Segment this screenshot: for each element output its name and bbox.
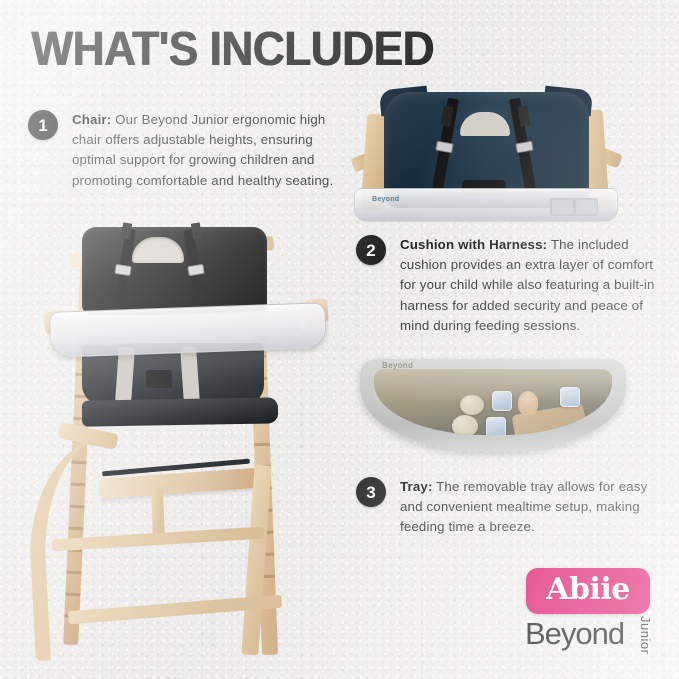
brand-logo: Abiie Beyond Junior [518, 568, 658, 660]
cushion-photo-tray-panel-a [552, 200, 573, 214]
cushion-photo-brand-mark: Beyond [372, 196, 399, 203]
tray-reflection-icon-5 [566, 427, 586, 435]
chair-crotch-buckle [146, 370, 172, 388]
item-3-label: Tray: [400, 479, 433, 494]
tray-gloss-highlight [374, 369, 612, 403]
item-3-description: The removable tray allows for easy and c… [400, 479, 647, 534]
chair-harness-tab-right [191, 222, 202, 239]
chair-black-footrest [82, 397, 278, 426]
junior-wordmark: Junior [638, 616, 653, 654]
abiie-logo-pill: Abiie [526, 568, 650, 614]
item-1-description: Our Beyond Junior ergonomic high chair o… [72, 112, 333, 188]
included-item-2: 2 Cushion with Harness: The included cus… [356, 235, 661, 336]
tray-reflection-plate-2 [452, 415, 478, 435]
item-1-label: Chair: [72, 112, 111, 127]
tray-product-photo: Beyond [350, 355, 636, 467]
page-title: WHAT'S INCLUDED [31, 22, 434, 77]
included-item-3: 3 Tray: The removable tray allows for ea… [356, 477, 656, 538]
chair-product-photo [22, 215, 342, 660]
cushion-photo-tray-panel-b [576, 200, 597, 214]
infographic-page: WHAT'S INCLUDED [0, 0, 679, 679]
included-item-1: 1 Chair: Our Beyond Junior ergonomic hig… [28, 110, 348, 191]
beyond-wordmark: Beyond [525, 618, 624, 649]
item-2-number-badge: 2 [356, 235, 386, 265]
tray-reflection-icon-2 [486, 417, 506, 435]
item-2-label: Cushion with Harness: [400, 237, 547, 252]
item-1-text: Chair: Our Beyond Junior ergonomic high … [72, 110, 348, 191]
cushion-product-photo: Beyond [352, 88, 620, 222]
abiie-wordmark: Abiie [546, 575, 630, 605]
item-1-number-badge: 1 [28, 110, 58, 140]
item-2-text: Cushion with Harness: The included cushi… [400, 235, 661, 336]
item-3-text: Tray: The removable tray allows for easy… [400, 477, 656, 538]
tray-brand-mark: Beyond [382, 361, 413, 370]
item-3-number-badge: 3 [356, 477, 386, 507]
chair-height-notch [254, 443, 270, 447]
